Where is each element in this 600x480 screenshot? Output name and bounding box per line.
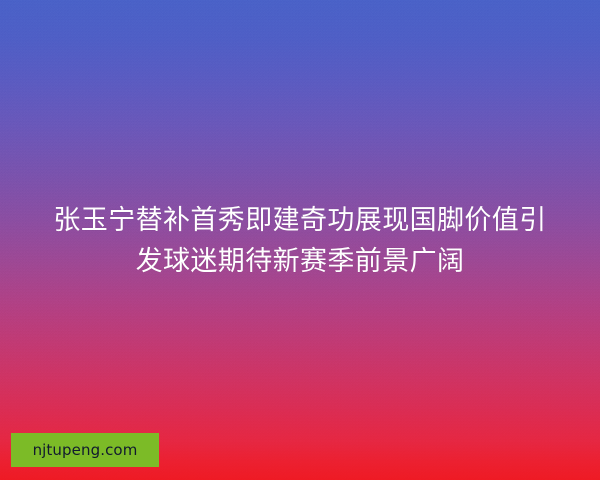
headline-line-2: 发球迷期待新赛季前景广阔 (18, 241, 582, 282)
headline-line-1: 张玉宁替补首秀即建奇功展现国脚价值引 (18, 200, 582, 241)
headline-text: 张玉宁替补首秀即建奇功展现国脚价值引 发球迷期待新赛季前景广阔 (0, 200, 600, 282)
poster-image: 张玉宁替补首秀即建奇功展现国脚价值引 发球迷期待新赛季前景广阔 njtupeng… (0, 0, 600, 480)
watermark-label: njtupeng.com (33, 443, 138, 458)
watermark-badge: njtupeng.com (11, 433, 159, 467)
